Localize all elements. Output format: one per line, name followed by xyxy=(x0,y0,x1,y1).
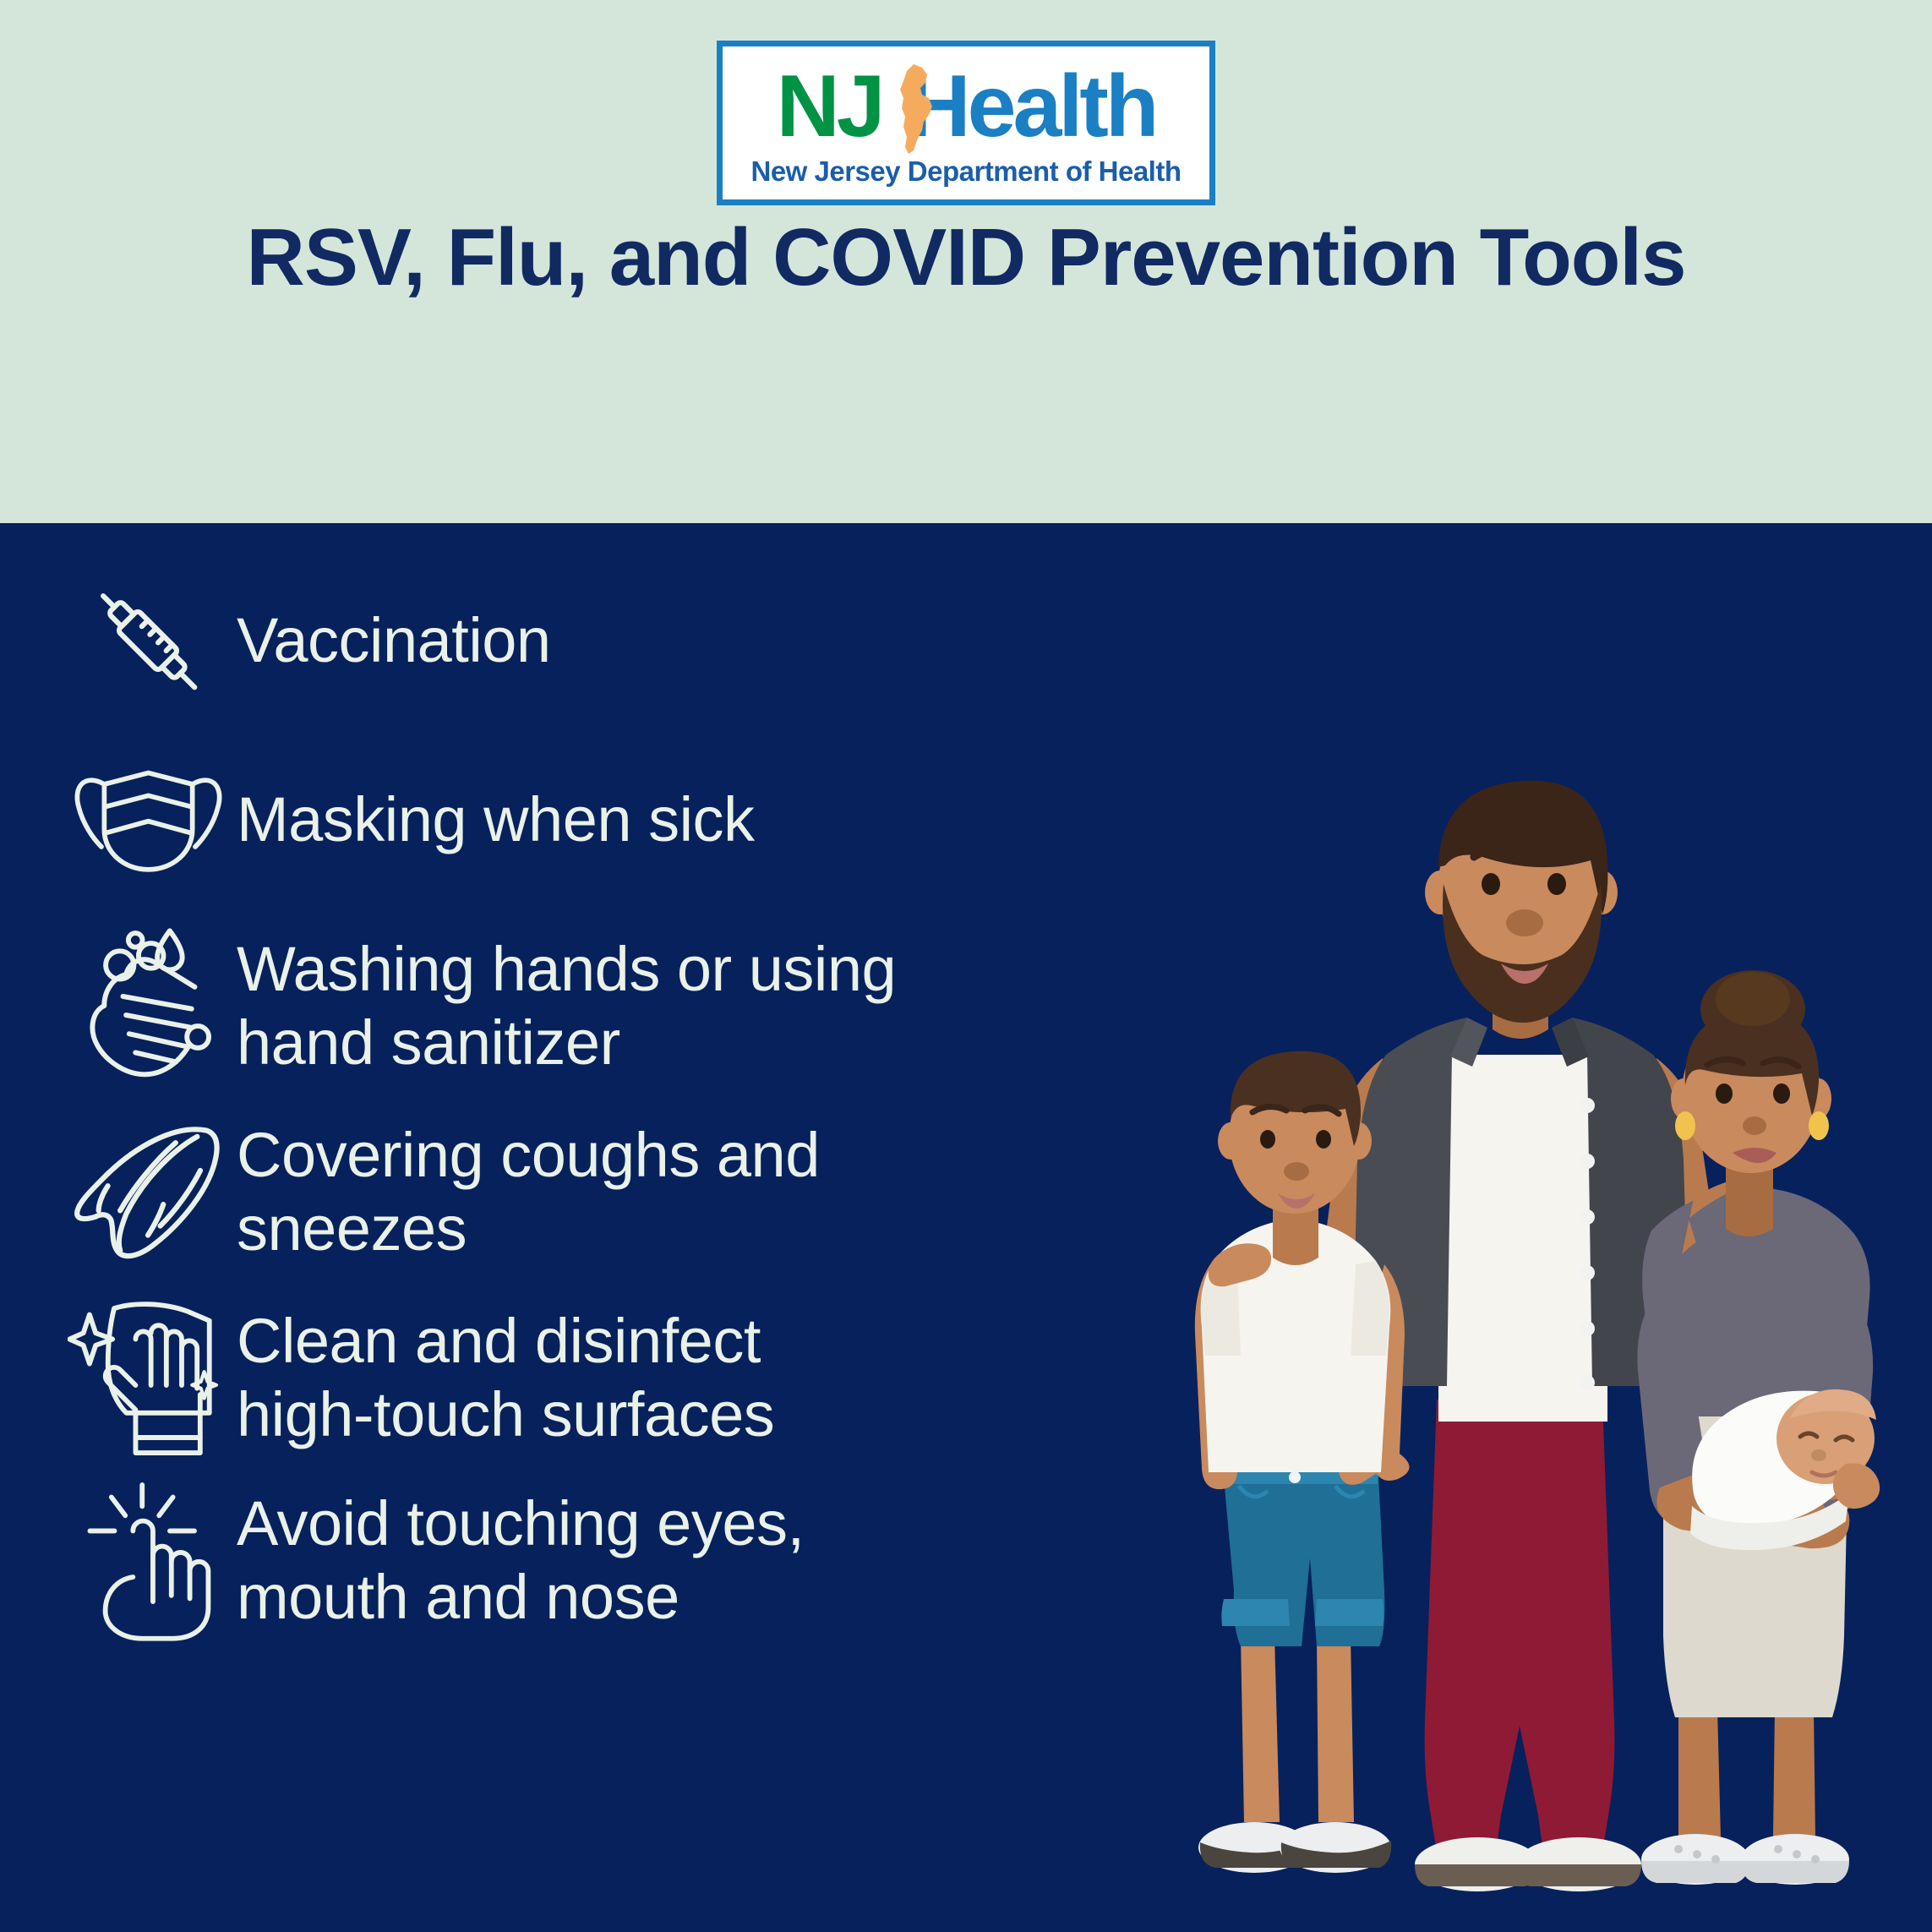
list-item: Vaccination xyxy=(59,560,1183,721)
earring-right xyxy=(1809,1111,1829,1140)
poster-root: NJ Health New Jersey Department of Healt… xyxy=(0,0,1932,1932)
list-item: Avoid touching eyes, mouth and nose xyxy=(59,1480,1183,1640)
header-band: NJ Health New Jersey Department of Healt… xyxy=(0,0,1932,523)
earring-left xyxy=(1675,1111,1695,1140)
list-item-label: Masking when sick xyxy=(237,783,755,856)
list-item-label: Clean and disinfect high-touch surfaces xyxy=(237,1304,774,1452)
pointing-finger-icon xyxy=(59,1480,237,1640)
nj-health-logo: NJ Health New Jersey Department of Healt… xyxy=(717,41,1215,205)
list-item: Masking when sick xyxy=(59,740,1183,900)
list-item: Clean and disinfect high-touch surfaces xyxy=(59,1297,1183,1458)
logo-nj-text: NJ xyxy=(777,63,882,150)
list-item-label: Washing hands or using hand sanitizer xyxy=(237,932,896,1080)
logo-subtitle: New Jersey Department of Health xyxy=(750,156,1181,188)
syringe-icon xyxy=(59,560,237,721)
list-item: Washing hands or using hand sanitizer xyxy=(59,925,1183,1086)
prevention-tools-list: Vaccination Masking when sick xyxy=(59,557,1183,1640)
page-title: RSV, Flu, and COVID Prevention Tools xyxy=(0,213,1932,303)
washing-hands-icon xyxy=(59,925,237,1086)
father-pants xyxy=(1425,1400,1615,1853)
tissue-icon xyxy=(59,1111,237,1272)
new-jersey-state-outline-icon xyxy=(888,63,941,157)
list-item: Covering coughs and sneezes xyxy=(59,1111,1183,1272)
family-of-four-illustration xyxy=(1190,757,1891,1932)
logo-health-text: Health xyxy=(908,63,1156,150)
list-item-label: Covering coughs and sneezes xyxy=(237,1118,820,1266)
list-item-label: Avoid touching eyes, mouth and nose xyxy=(237,1487,805,1635)
body-band: Vaccination Masking when sick xyxy=(0,523,1932,1932)
cleaning-glove-icon xyxy=(59,1297,237,1458)
logo-wordmark: NJ Health xyxy=(723,59,1209,154)
list-item-label: Vaccination xyxy=(237,603,551,677)
face-mask-icon xyxy=(59,740,237,900)
